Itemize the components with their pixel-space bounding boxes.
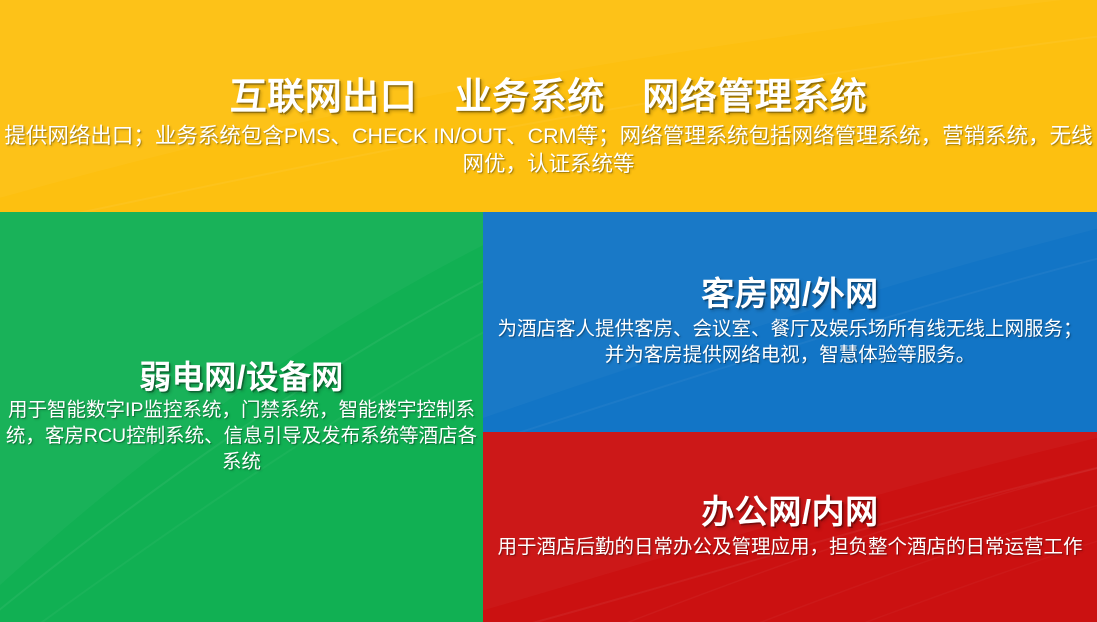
- panel-weak-current-network: 弱电网/设备网 用于智能数字IP监控系统，门禁系统，智能楼宇控制系统，客房RCU…: [0, 212, 483, 622]
- panel-weak-current-heading: 弱电网/设备网: [139, 359, 343, 396]
- panel-internet-description: 提供网络出口；业务系统包含PMS、CHECK IN/OUT、CRM等；网络管理系…: [2, 122, 1095, 179]
- panel-guest-room-network: 客房网/外网 为酒店客人提供客房、会议室、餐厅及娱乐场所有线无线上网服务；并为客…: [483, 212, 1097, 432]
- panel-office-network: 办公网/内网 用于酒店后勤的日常办公及管理应用，担负整个酒店的日常运营工作: [483, 432, 1097, 622]
- panel-guest-room-description: 为酒店客人提供客房、会议室、餐厅及娱乐场所有线无线上网服务；并为客房提供网络电视…: [485, 317, 1095, 368]
- panel-internet-egress: 互联网出口 业务系统 网络管理系统 提供网络出口；业务系统包含PMS、CHECK…: [0, 0, 1097, 212]
- panel-guest-room-heading: 客房网/外网: [701, 275, 878, 313]
- panel-office-heading: 办公网/内网: [701, 493, 878, 531]
- panel-weak-current-description: 用于智能数字IP监控系统，门禁系统，智能楼宇控制系统，客房RCU控制系统、信息引…: [1, 398, 482, 475]
- network-zones-slide: 互联网出口 业务系统 网络管理系统 提供网络出口；业务系统包含PMS、CHECK…: [0, 0, 1097, 622]
- panel-office-description: 用于酒店后勤的日常办公及管理应用，担负整个酒店的日常运营工作: [485, 535, 1095, 561]
- panel-internet-heading: 互联网出口 业务系统 网络管理系统: [230, 77, 868, 118]
